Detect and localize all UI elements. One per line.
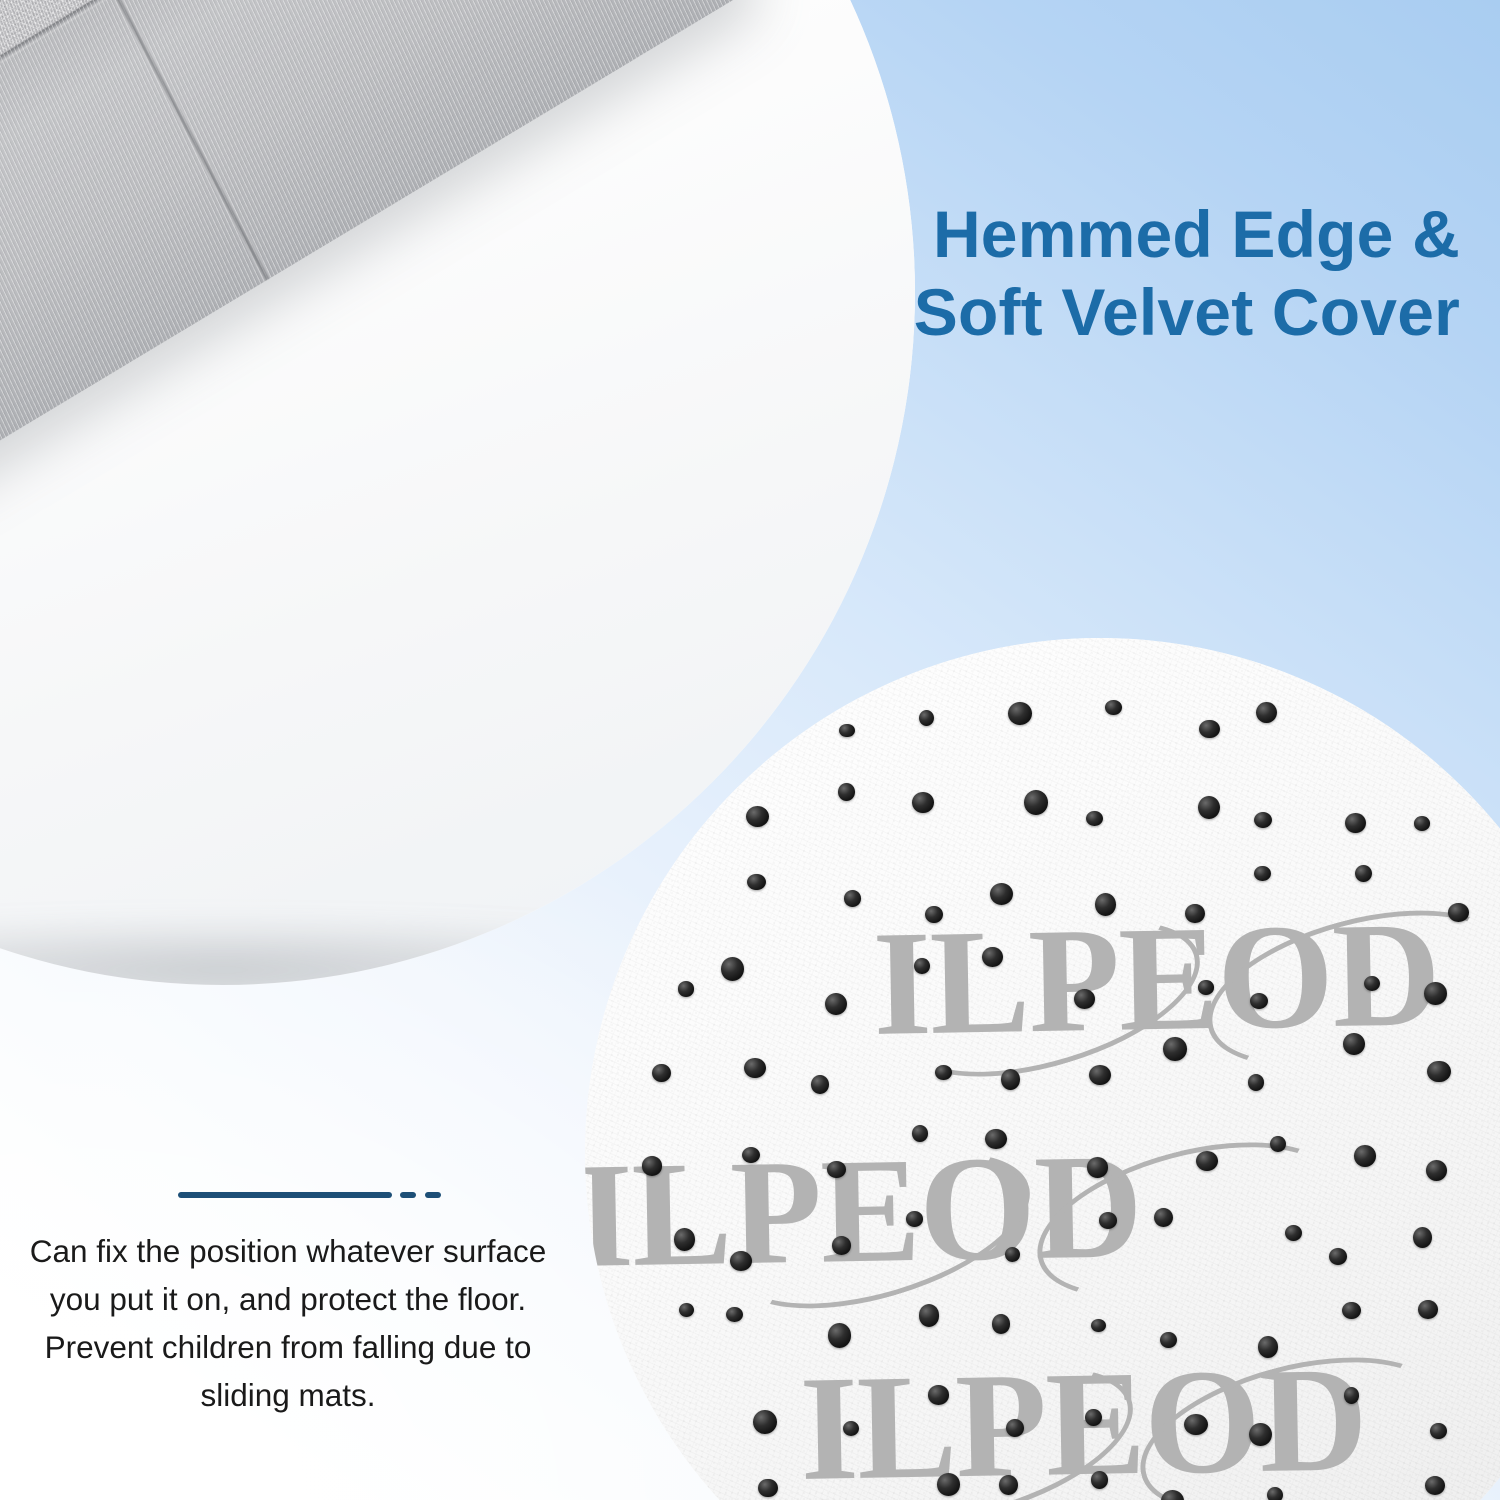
nonslip-dot xyxy=(1329,1248,1347,1265)
nonslip-dot xyxy=(925,906,943,923)
body-line: Can fix the position whatever surface xyxy=(8,1228,568,1276)
nonslip-dot xyxy=(1285,1225,1302,1241)
nonslip-dot xyxy=(1254,812,1272,828)
nonslip-dot xyxy=(679,1303,694,1317)
hemmed-edge-heading-line2: Soft Velvet Cover xyxy=(914,274,1460,352)
nonslip-dot xyxy=(1267,1487,1283,1500)
nonslip-dot xyxy=(753,1410,777,1434)
nonslip-dot xyxy=(1355,865,1372,883)
nonslip-dot xyxy=(838,783,855,801)
nonslip-dot xyxy=(674,1228,695,1250)
nonslip-dot xyxy=(999,1475,1018,1494)
nonslip-dot xyxy=(839,724,854,738)
nonslip-dot xyxy=(744,1058,766,1078)
nonslip-dot xyxy=(1354,1145,1377,1167)
nonslip-dot xyxy=(721,957,745,981)
nonslip-dot xyxy=(828,1323,852,1347)
nonslip-dot xyxy=(742,1147,760,1163)
nonslip-dot xyxy=(1364,976,1380,992)
nonslip-dot xyxy=(1085,1409,1102,1426)
nonslip-dot-pattern xyxy=(585,638,1500,1500)
nonslip-dot xyxy=(1254,866,1271,882)
nonslip-dot xyxy=(919,710,934,726)
nonslip-dot xyxy=(912,1125,928,1142)
nonslip-dot xyxy=(832,1236,851,1255)
nonslip-dot xyxy=(1448,903,1469,922)
nonslip-dot xyxy=(1250,993,1268,1009)
nonslip-dot xyxy=(1424,982,1446,1005)
divider-dash xyxy=(400,1192,416,1198)
nonslip-dot xyxy=(985,1129,1007,1149)
nonslip-dot xyxy=(1198,980,1214,994)
heading-divider xyxy=(178,1192,392,1198)
nonslip-dot xyxy=(1160,1332,1177,1348)
nonslip-dot xyxy=(746,806,769,827)
nonslip-dot xyxy=(1427,1061,1450,1083)
nonslip-dot xyxy=(935,1065,952,1080)
nonslip-dot xyxy=(1091,1471,1108,1488)
nonslip-dot xyxy=(928,1385,949,1404)
nonslip-dot xyxy=(1258,1336,1279,1358)
nonslip-dot xyxy=(982,947,1003,967)
nonslip-dot xyxy=(758,1479,777,1498)
nonslip-dot xyxy=(1345,813,1366,834)
nonslip-dot xyxy=(1001,1069,1020,1089)
nonslip-dot xyxy=(827,1161,846,1178)
nonslip-dot xyxy=(1087,1157,1109,1178)
nonslip-dot xyxy=(642,1156,663,1175)
nonslip-dot xyxy=(1249,1423,1272,1446)
nonslip-dot xyxy=(1005,1247,1020,1262)
nonslip-dot xyxy=(906,1211,924,1227)
nonslip-dot xyxy=(1095,893,1116,916)
nonslip-dot xyxy=(1344,1387,1360,1404)
non-slip-body-text: Can fix the position whatever surface yo… xyxy=(8,1228,568,1420)
nonslip-dot xyxy=(1105,700,1122,715)
nonslip-dot xyxy=(1196,1151,1218,1171)
nonslip-dot xyxy=(912,792,934,813)
nonslip-dot xyxy=(1342,1302,1361,1320)
nonslip-dot xyxy=(1163,1037,1186,1061)
nonslip-dot xyxy=(1099,1212,1118,1229)
nonslip-dot xyxy=(1414,816,1430,831)
nonslip-dot xyxy=(1430,1423,1447,1440)
body-line: Prevent children from falling due to xyxy=(8,1324,568,1372)
hemmed-edge-heading: Hemmed Edge & Soft Velvet Cover xyxy=(914,196,1460,352)
nonslip-dot xyxy=(992,1314,1011,1334)
nonslip-dot xyxy=(914,958,929,974)
nonslip-dot xyxy=(1091,1319,1106,1333)
hemmed-edge-heading-line1: Hemmed Edge & xyxy=(933,197,1460,271)
infographic-canvas: ILPEOD ILPEOD ILPEOD Hemmed Edge & Soft … xyxy=(0,0,1500,1500)
nonslip-dot xyxy=(1343,1033,1364,1055)
nonslip-dot xyxy=(678,981,695,997)
nonslip-dot xyxy=(1161,1490,1184,1500)
nonslip-dot xyxy=(1089,1065,1111,1085)
nonslip-dot xyxy=(747,874,766,891)
nonslip-dot xyxy=(1008,702,1032,725)
nonslip-dot xyxy=(825,993,847,1015)
nonslip-dot xyxy=(730,1251,752,1271)
nonslip-dot xyxy=(1154,1208,1173,1227)
nonslip-dot xyxy=(1198,796,1220,819)
divider-dash xyxy=(425,1192,441,1198)
nonslip-dot xyxy=(726,1307,743,1322)
nonslip-dot xyxy=(1256,702,1277,723)
nonslip-dot xyxy=(1270,1136,1286,1152)
nonslip-dot xyxy=(937,1473,960,1495)
nonslip-dot xyxy=(1184,1414,1208,1435)
nonslip-dot xyxy=(1185,904,1205,923)
nonslip-dot xyxy=(1418,1300,1438,1319)
body-line: you put it on, and protect the floor. xyxy=(8,1276,568,1324)
nonslip-dot xyxy=(990,883,1013,905)
nonslip-dot xyxy=(652,1064,671,1083)
nonslip-dot xyxy=(1426,1160,1447,1181)
nonslip-dot xyxy=(844,890,861,907)
nonslip-photo-circle: ILPEOD ILPEOD ILPEOD xyxy=(585,638,1500,1500)
nonslip-dot xyxy=(811,1075,829,1094)
nonslip-dot xyxy=(1086,811,1103,826)
body-line: sliding mats. xyxy=(8,1372,568,1420)
nonslip-dot xyxy=(1074,989,1095,1008)
nonslip-dot xyxy=(1413,1227,1432,1248)
nonslip-dot xyxy=(1199,720,1219,738)
nonslip-dot xyxy=(1425,1476,1445,1495)
nonslip-dot xyxy=(1024,790,1048,815)
nonslip-dot xyxy=(1248,1074,1265,1091)
nonslip-dot xyxy=(919,1304,940,1326)
nonslip-dot xyxy=(1006,1419,1024,1437)
nonslip-dot xyxy=(843,1421,859,1436)
